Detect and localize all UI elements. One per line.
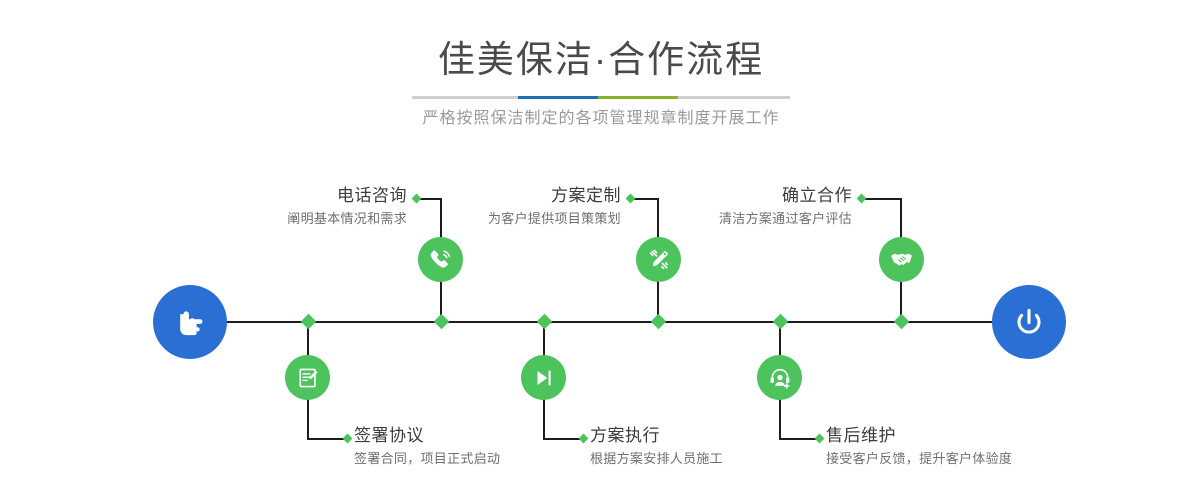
- step-2-icon-circle[interactable]: [285, 355, 330, 400]
- step-3-axis-marker: [651, 314, 667, 330]
- step-6-label: 售后维护 接受客户反馈，提升客户体验度: [826, 424, 1156, 470]
- step-4-arm: [543, 438, 582, 440]
- start-node[interactable]: [153, 285, 227, 359]
- timeline-axis: [155, 321, 1043, 323]
- step-5-marker: [857, 194, 867, 204]
- step-4-icon-circle[interactable]: [521, 355, 566, 400]
- divider-green-segment: [598, 96, 678, 99]
- play-next-icon: [531, 365, 557, 391]
- power-icon: [1009, 302, 1049, 342]
- step-6-axis-marker: [773, 314, 789, 330]
- step-3-title: 方案定制: [368, 184, 621, 208]
- page-title: 佳美保洁·合作流程: [0, 38, 1202, 82]
- step-3-icon-circle[interactable]: [636, 237, 681, 282]
- step-5-arm: [865, 198, 901, 200]
- end-node[interactable]: [992, 285, 1066, 359]
- step-3-label: 方案定制 为客户提供项目策策划: [368, 184, 621, 230]
- step-1-axis-marker: [434, 314, 450, 330]
- step-4-axis-marker: [537, 314, 553, 330]
- step-5-axis-marker: [894, 314, 910, 330]
- step-3-desc: 为客户提供项目策策划: [368, 208, 621, 230]
- page-subtitle: 严格按照保洁制定的各项管理规章制度开展工作: [0, 106, 1202, 132]
- step-6-desc: 接受客户反馈，提升客户体验度: [826, 448, 1156, 470]
- step-2-arm: [307, 438, 346, 440]
- phone-call-icon: [427, 246, 454, 273]
- pencil-ruler-icon: [646, 247, 672, 273]
- support-agent-icon: [767, 365, 793, 391]
- step-6-arm: [779, 438, 818, 440]
- sign-document-icon: [295, 365, 321, 391]
- step-1-icon-circle[interactable]: [418, 237, 463, 282]
- step-2-marker: [343, 434, 353, 444]
- step-5-label: 确立合作 清洁方案通过客户评估: [600, 184, 852, 230]
- step-2-axis-marker: [301, 314, 317, 330]
- step-5-desc: 清洁方案通过客户评估: [600, 208, 852, 230]
- cooperation-process-infographic: 佳美保洁·合作流程 严格按照保洁制定的各项管理规章制度开展工作: [0, 0, 1202, 502]
- handshake-icon: [888, 246, 915, 273]
- step-5-title: 确立合作: [600, 184, 852, 208]
- step-6-icon-circle[interactable]: [757, 355, 802, 400]
- step-6-title: 售后维护: [826, 424, 1156, 448]
- pointing-hand-icon: [170, 302, 210, 342]
- title-divider: [412, 96, 790, 99]
- divider-blue-segment: [518, 96, 598, 99]
- step-5-icon-circle[interactable]: [879, 237, 924, 282]
